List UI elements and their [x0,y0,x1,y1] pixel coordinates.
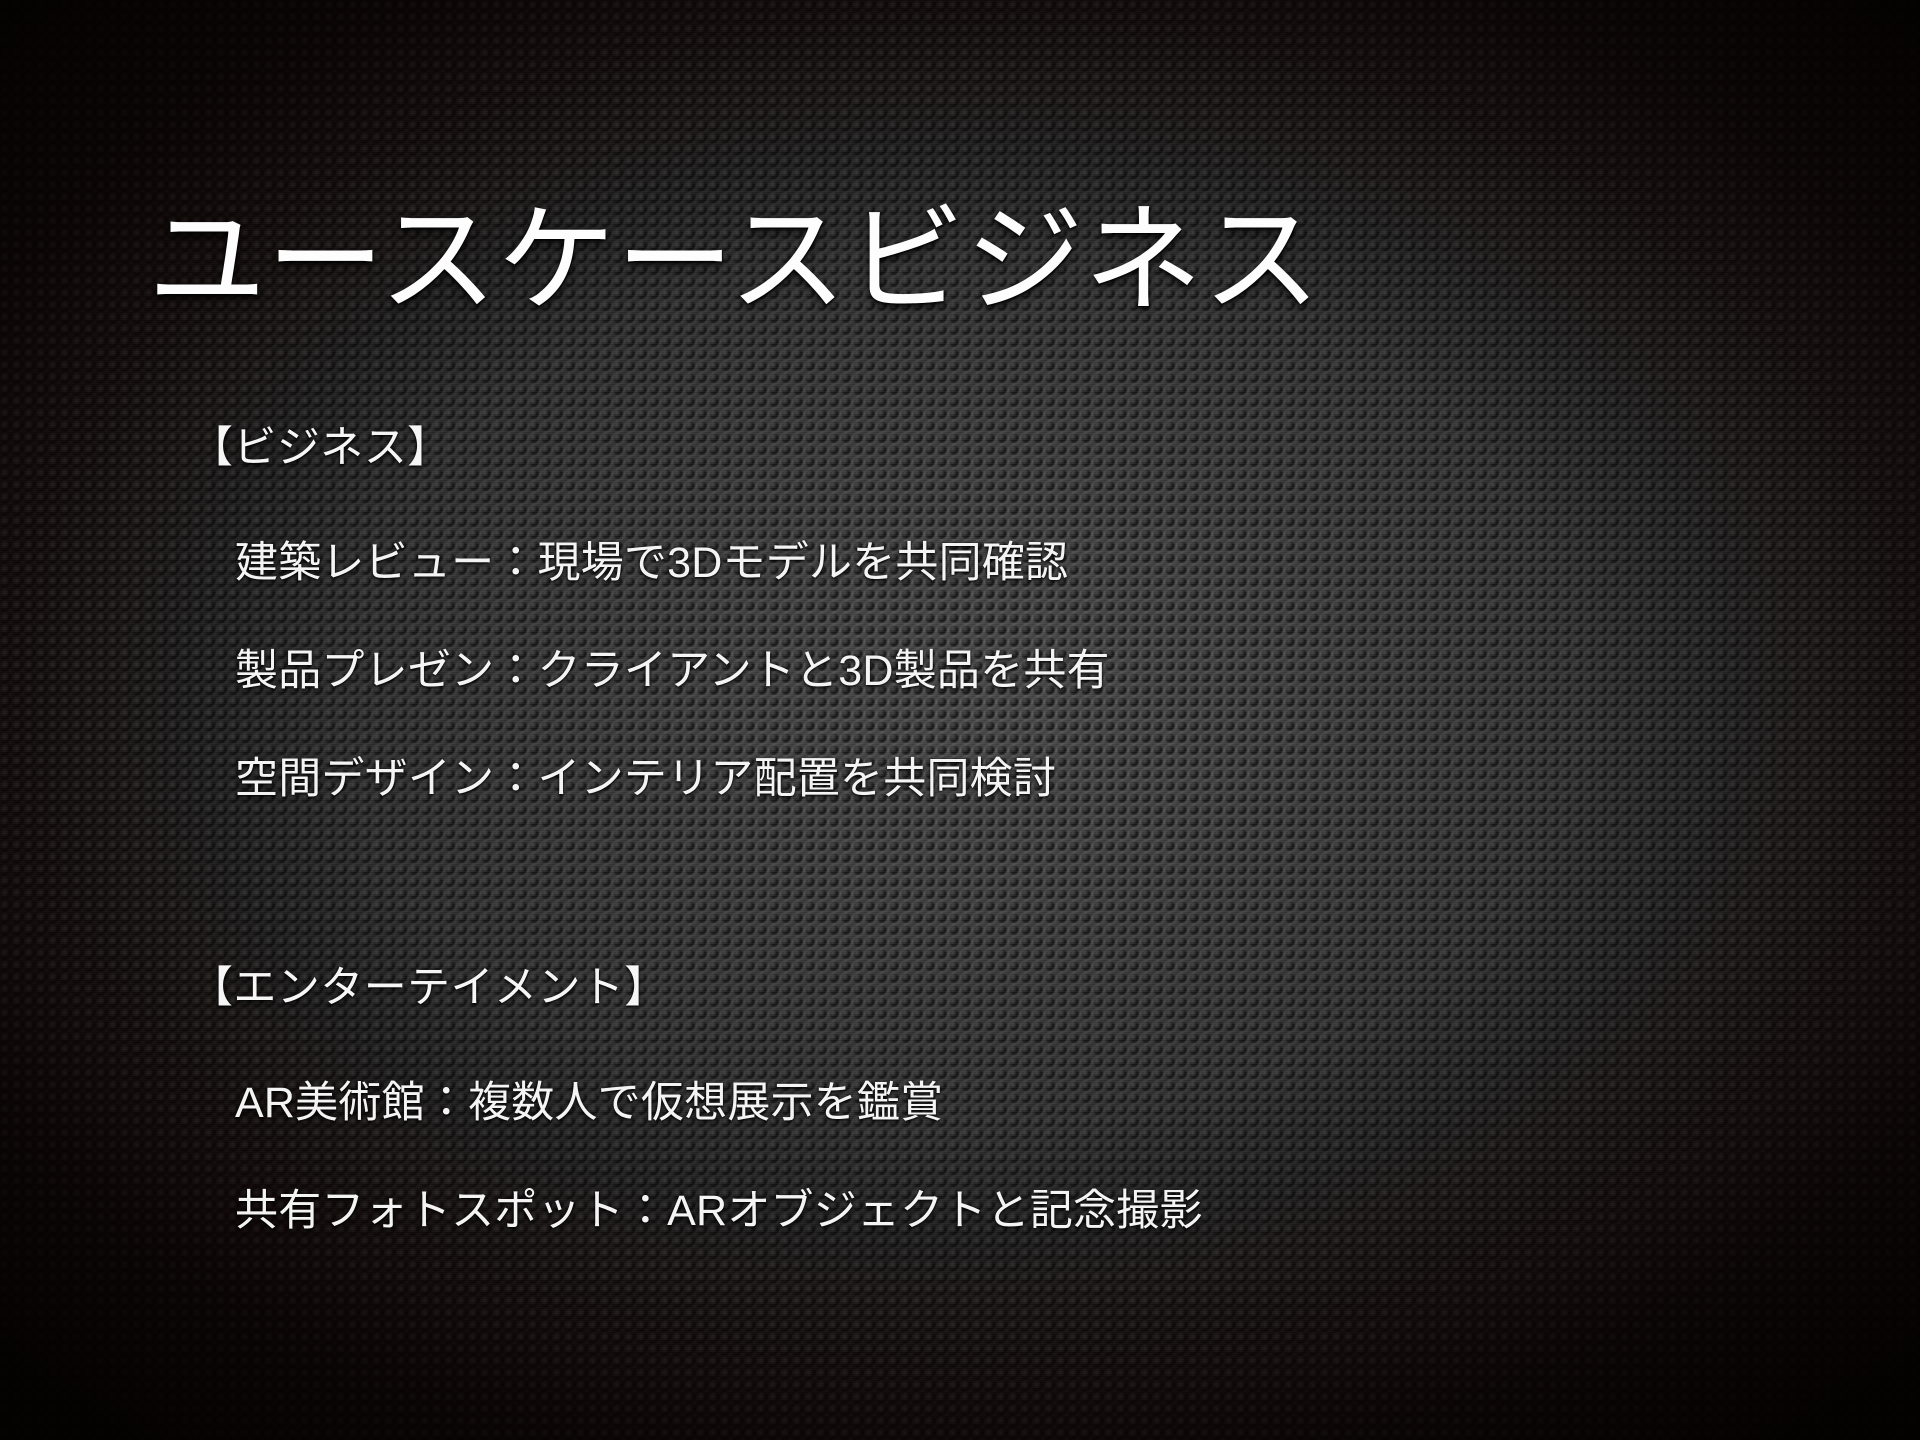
bullet-entertainment-2: 共有フォトスポット：ARオブジェクトと記念撮影 [235,1176,1203,1238]
bullet-entertainment-1: AR美術館：複数人で仮想展示を鑑賞 [235,1068,943,1130]
bullet-business-1: 建築レビュー：現場で3Dモデルを共同確認 [235,528,1068,590]
presentation-slide: ユースケースビジネス 【ビジネス】 建築レビュー：現場で3Dモデルを共同確認 製… [0,0,1920,1440]
slide-title: ユースケースビジネス [148,199,1321,324]
section-heading-business: 【ビジネス】 [190,413,451,475]
bullet-business-3: 空間デザイン：インテリア配置を共同検討 [235,744,1056,806]
bullet-business-2: 製品プレゼン：クライアントと3D製品を共有 [235,636,1110,698]
section-heading-entertainment: 【エンターテイメント】 [190,953,668,1015]
slide-content: ユースケースビジネス 【ビジネス】 建築レビュー：現場で3Dモデルを共同確認 製… [0,0,1920,1440]
